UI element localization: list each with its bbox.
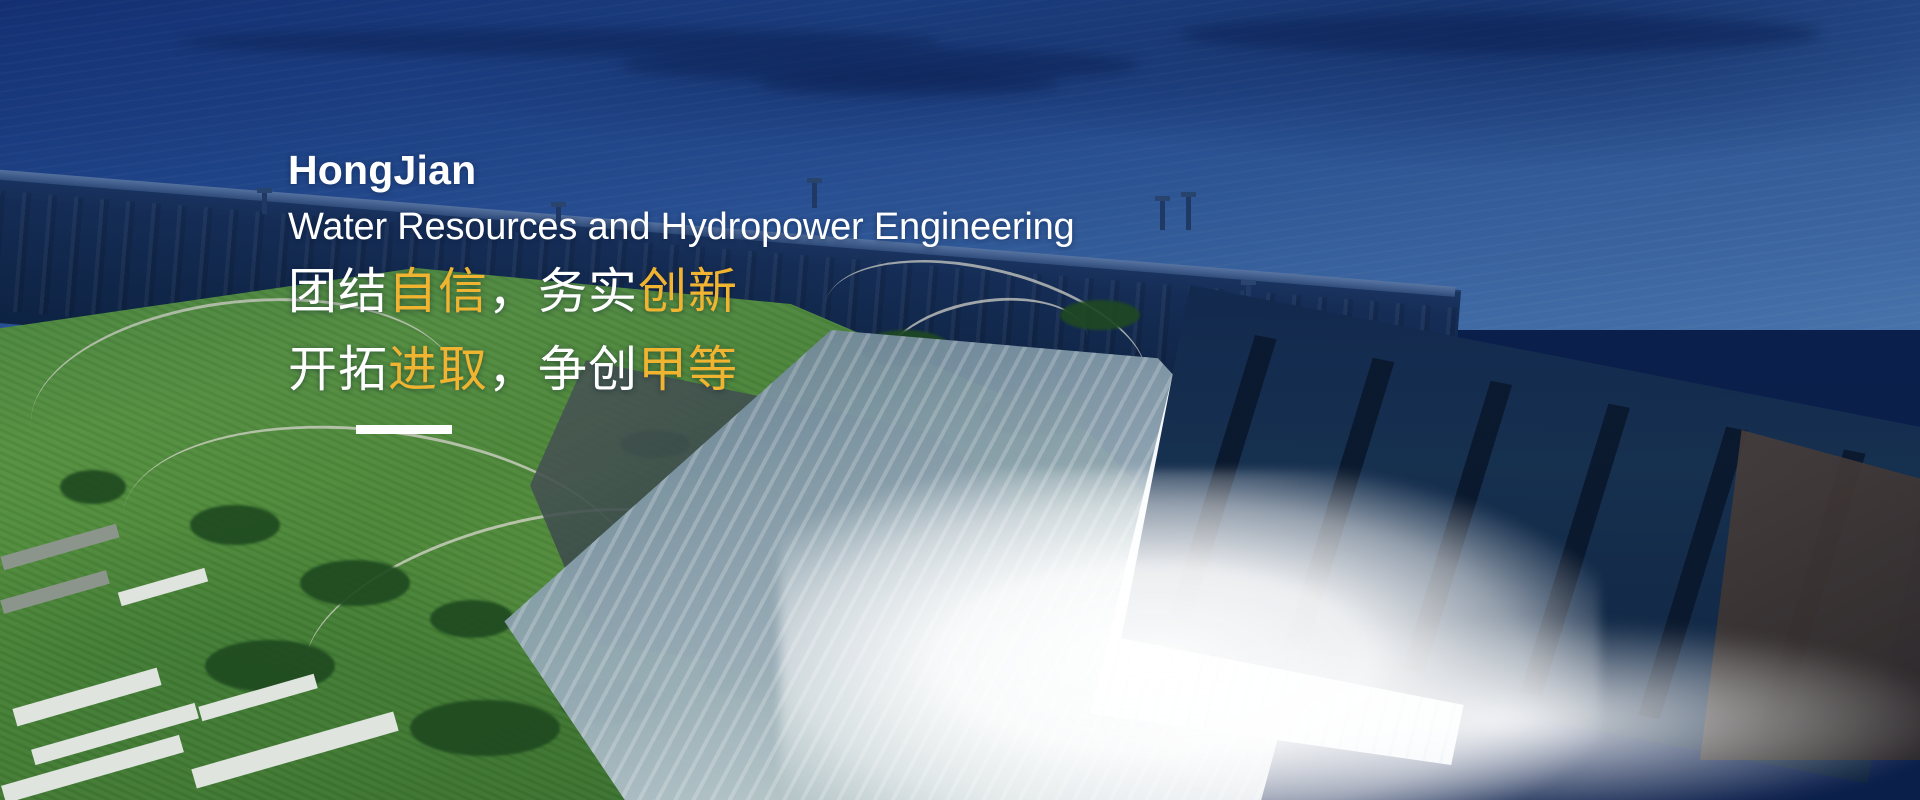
english-tagline: Water Resources and Hydropower Engineeri… bbox=[288, 201, 1074, 253]
slogan-2-seg-4: 甲等 bbox=[638, 343, 738, 397]
far-shore-smudge bbox=[1180, 14, 1820, 54]
tree-clump bbox=[300, 560, 410, 606]
transmission-pylon bbox=[1186, 196, 1191, 230]
tree-clump bbox=[430, 600, 514, 638]
far-shore-smudge bbox=[760, 72, 1060, 96]
slogan-2-seg-2: 进取 bbox=[388, 343, 488, 397]
underline-accent-bar bbox=[356, 425, 452, 434]
slogan-2-seg-1: 开拓 bbox=[288, 343, 388, 397]
hero-banner: HongJian Water Resources and Hydropower … bbox=[0, 0, 1920, 800]
tree-clump bbox=[410, 700, 560, 756]
slogan-2-seg-3: ，争创 bbox=[488, 343, 638, 397]
transmission-pylon bbox=[1160, 200, 1165, 230]
slogan-1-seg-1: 团结 bbox=[288, 265, 388, 319]
brand-name: HongJian bbox=[288, 145, 1074, 195]
transmission-pylon bbox=[262, 192, 267, 214]
slogan-1-seg-3: ，务实 bbox=[488, 265, 638, 319]
slogan-1-seg-2: 自信 bbox=[388, 265, 488, 319]
slogan-1-seg-4: 创新 bbox=[638, 265, 738, 319]
spray-mist bbox=[1050, 620, 1920, 800]
slogan-line-1: 团结自信，务实创新 bbox=[288, 253, 1074, 331]
hero-copy-block: HongJian Water Resources and Hydropower … bbox=[288, 145, 1074, 434]
tree-clump bbox=[60, 470, 126, 504]
tree-clump bbox=[190, 505, 280, 545]
slogan-line-2: 开拓进取，争创甲等 bbox=[288, 331, 1074, 409]
